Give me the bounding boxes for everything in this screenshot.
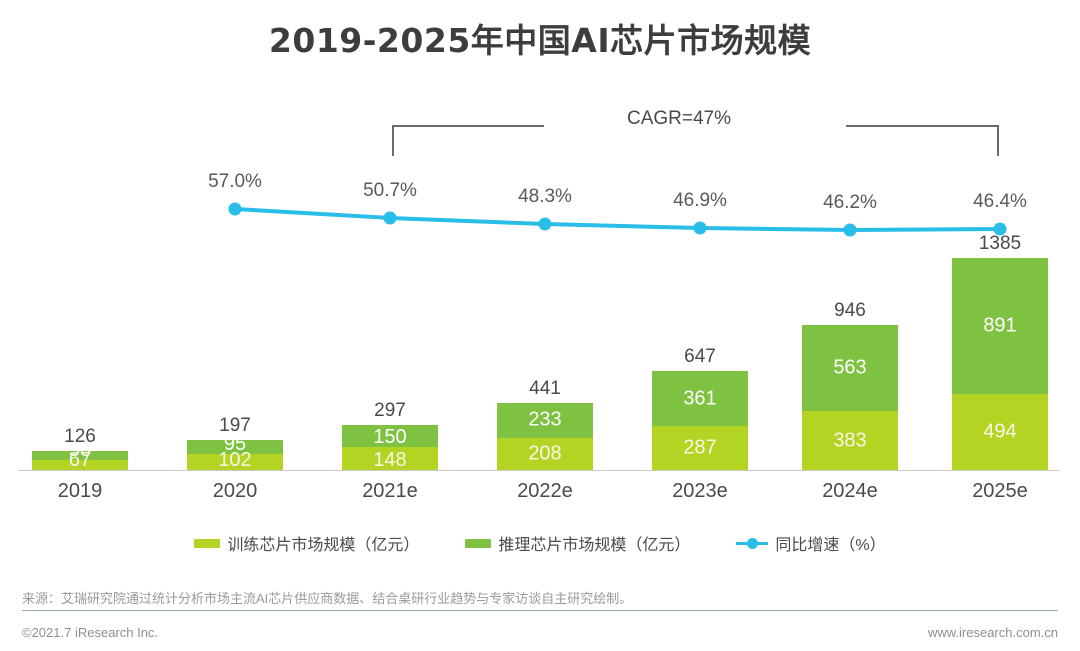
bar-group[interactable]: 647361287 [652,371,748,470]
x-axis-tick-2023e: 2023e [640,480,760,503]
bar-segment-training[interactable]: 383 [802,411,898,470]
bar-total-label: 647 [652,346,748,368]
bar-segment-value: 563 [802,357,898,380]
bar-segment-inference[interactable]: 891 [952,258,1048,394]
footer: ©2021.7 iResearch Inc. www.iresearch.com… [0,617,1080,651]
legend-label-training: 训练芯片市场规模（亿元） [227,531,419,555]
bar-segment-value: 233 [497,409,593,432]
legend-item-growth[interactable]: 同比增速（%） [736,531,885,555]
bar-segment-training[interactable]: 102 [187,454,283,470]
bar-segment-training[interactable]: 287 [652,426,748,470]
bar-segment-training[interactable]: 494 [952,394,1048,470]
x-axis-tick-2025e: 2025e [940,480,1060,503]
bar-segment-training[interactable]: 148 [342,447,438,470]
bar-segment-inference[interactable]: 563 [802,325,898,411]
x-axis-tick-2019: 2019 [20,480,140,503]
bar-segment-value: 287 [652,437,748,460]
growth-value-label: 57.0% [190,171,280,193]
x-axis-tick-2022e: 2022e [485,480,605,503]
legend-label-inference: 推理芯片市场规模（亿元） [498,531,690,555]
website-link[interactable]: www.iresearch.com.cn [928,625,1058,640]
bar-segment-value: 208 [497,443,593,466]
growth-line-marker[interactable] [539,218,552,231]
footer-divider [22,610,1058,611]
source-note: 来源：艾瑞研究院通过统计分析市场主流AI芯片供应商数据、结合桌研行业趋势与专家访… [22,588,632,607]
bar-segment-inference[interactable]: 233 [497,403,593,439]
bar-total-label: 946 [802,300,898,322]
legend-label-growth: 同比增速（%） [775,531,885,555]
bar-segment-value: 67 [32,449,128,472]
growth-line-marker[interactable] [229,203,242,216]
x-axis-tick-2021e: 2021e [330,480,450,503]
bar-total-label: 297 [342,400,438,422]
bar-segment-value: 148 [342,449,438,472]
bar-group[interactable]: 946563383 [802,325,898,470]
bar-total-label: 1385 [952,233,1048,255]
x-axis-tick-2024e: 2024e [790,480,910,503]
bar-segment-value: 891 [952,315,1048,338]
bar-group[interactable]: 1265867 [32,451,128,470]
growth-value-label: 46.4% [955,191,1045,213]
bar-group[interactable]: 19795102 [187,440,283,470]
chart-legend: 训练芯片市场规模（亿元） 推理芯片市场规模（亿元） 同比增速（%） [0,528,1080,558]
bar-segment-value: 361 [652,387,748,410]
bar-segment-value: 383 [802,429,898,452]
growth-line-marker[interactable] [384,212,397,225]
bar-group[interactable]: 297150148 [342,425,438,470]
bar-segment-value: 102 [187,449,283,472]
bar-segment-value: 494 [952,421,1048,444]
growth-line-marker[interactable] [844,224,857,237]
square-swatch-icon [465,539,491,548]
bar-segment-inference[interactable]: 361 [652,371,748,426]
legend-item-training[interactable]: 训练芯片市场规模（亿元） [194,531,419,555]
bar-group[interactable]: 441233208 [497,403,593,471]
growth-value-label: 46.2% [805,192,895,214]
bar-segment-inference[interactable]: 150 [342,425,438,448]
bar-segment-value: 150 [342,426,438,449]
bar-segment-training[interactable]: 208 [497,438,593,470]
line-marker-icon [736,537,768,549]
growth-value-label: 50.7% [345,180,435,202]
x-axis-tick-2020: 2020 [175,480,295,503]
plot-area: CAGR=47% 57.0%50.7%48.3%46.9%46.2%46.4% … [0,0,1080,480]
growth-value-label: 46.9% [655,190,745,212]
chart-container: 2019-2025年中国AI芯片市场规模 CAGR=47% 57.0%50.7%… [0,0,1080,651]
square-swatch-icon [194,539,220,548]
bar-total-label: 441 [497,378,593,400]
copyright-text: ©2021.7 iResearch Inc. [22,625,158,640]
growth-value-label: 48.3% [500,186,590,208]
legend-item-inference[interactable]: 推理芯片市场规模（亿元） [465,531,690,555]
x-axis-line [18,470,1060,471]
bar-segment-training[interactable]: 67 [32,460,128,470]
growth-line-marker[interactable] [694,222,707,235]
bar-group[interactable]: 1385891494 [952,258,1048,470]
